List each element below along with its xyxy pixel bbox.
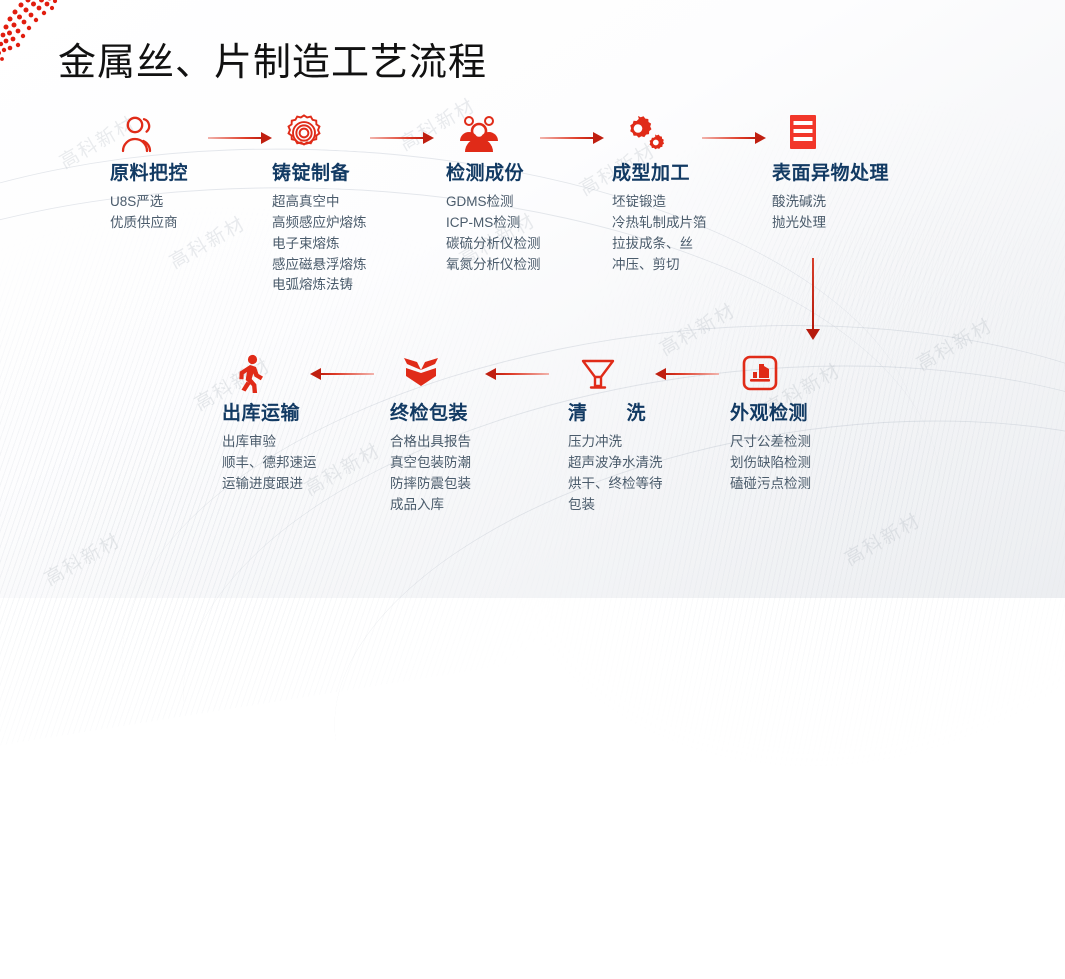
step-detail-line: ICP-MS检测 (446, 213, 621, 234)
arrow-shaft (702, 137, 755, 139)
step-detail-list: 合格出具报告 真空包装防潮 防摔防震包装 成品入库 (390, 432, 565, 516)
step-detail-line: 优质供应商 (110, 213, 285, 234)
step-detail-list: U8S严选 优质供应商 (110, 192, 285, 234)
step-detail-list: 尺寸公差检测 划伤缺陷检测 磕碰污点检测 (730, 432, 905, 495)
gear-target-outline-icon (282, 112, 326, 154)
open-box-solid-icon (400, 356, 442, 394)
running-person-solid-icon (232, 354, 270, 394)
step-icon-wrapper (272, 108, 447, 154)
step-detail-line: 超声波净水清洗 (568, 453, 743, 474)
arrow-head (755, 132, 766, 144)
process-flow-diagram: 原料把控 U8S严选 优质供应商 铸锭制备 超高真空中 高频感应炉熔炼 电子束熔… (0, 0, 1065, 598)
arrow-shaft (208, 137, 261, 139)
step-title: 成型加工 (612, 162, 787, 186)
step-detail-line: 抛光处理 (772, 213, 947, 234)
step-detail-line: 感应磁悬浮熔炼 (272, 255, 447, 276)
step-detail-line: 顺丰、德邦速运 (222, 453, 397, 474)
step-title: 终检包装 (390, 402, 565, 426)
step-detail-line: 磕碰污点检测 (730, 474, 905, 495)
step-title: 清 洗 (568, 402, 743, 426)
step-detail-line: 运输进度跟进 (222, 474, 397, 495)
step-detail-line: 防摔防震包装 (390, 474, 565, 495)
step-title: 出库运输 (222, 402, 397, 426)
step-final-inspection-packaging[interactable]: 终检包装 合格出具报告 真空包装防潮 防摔防震包装 成品入库 (390, 348, 565, 515)
step-icon-wrapper (222, 348, 397, 394)
step-detail-list: 坯锭锻造 冷热轧制成片箔 拉拔成条、丝 冲压、剪切 (612, 192, 787, 276)
step-detail-line: 高频感应炉熔炼 (272, 213, 447, 234)
arrow-shaft (540, 137, 593, 139)
two-people-outline-icon (120, 114, 162, 154)
step-icon-wrapper (568, 348, 743, 394)
step-icon-wrapper (730, 348, 905, 394)
step-detail-line: 出库审验 (222, 432, 397, 453)
step-detail-line: 压力冲洗 (568, 432, 743, 453)
arrow-head (593, 132, 604, 144)
people-group-solid-icon (456, 114, 502, 154)
step-title: 外观检测 (730, 402, 905, 426)
step-detail-line: 成品入库 (390, 495, 565, 516)
step-cleaning[interactable]: 清 洗 压力冲洗 超声波净水清洗 烘干、终检等待包装 (568, 348, 743, 515)
step-detail-line: 坯锭锻造 (612, 192, 787, 213)
step-title: 原料把控 (110, 162, 285, 186)
step-detail-list: GDMS检测 ICP-MS检测 碳硫分析仪检测 氧氮分析仪检测 (446, 192, 621, 276)
step-icon-wrapper (446, 108, 621, 154)
step-detail-line: 氧氮分析仪检测 (446, 255, 621, 276)
page-title: 金属丝、片制造工艺流程 (58, 31, 487, 86)
step-detail-line: 尺寸公差检测 (730, 432, 905, 453)
microscope-framed-outline-icon (740, 354, 780, 394)
step-detail-line: 碳硫分析仪检测 (446, 234, 621, 255)
step-surface-treatment[interactable]: 表面异物处理 酸洗碱洗 抛光处理 (772, 108, 947, 234)
arrow-head (423, 132, 434, 144)
step-detail-list: 酸洗碱洗 抛光处理 (772, 192, 947, 234)
arrow-head (806, 329, 820, 340)
step-detail-line: 电弧熔炼法铸 (272, 275, 447, 296)
step-detail-list: 超高真空中 高频感应炉熔炼 电子束熔炼 感应磁悬浮熔炼 电弧熔炼法铸 (272, 192, 447, 297)
step-title: 铸锭制备 (272, 162, 447, 186)
arrow-2-3 (370, 132, 434, 144)
step-outbound-transport[interactable]: 出库运输 出库审验 顺丰、德邦速运 运输进度跟进 (222, 348, 397, 495)
arrow-5-6 (807, 258, 819, 340)
step-icon-wrapper (612, 108, 787, 154)
step-detail-line: 烘干、终检等待包装 (568, 474, 673, 516)
arrow-3-4 (540, 132, 604, 144)
document-lines-solid-icon (782, 112, 822, 154)
funnel-outline-icon (578, 354, 618, 394)
arrow-4-5 (702, 132, 766, 144)
arrow-1-2 (208, 132, 272, 144)
step-detail-line: 合格出具报告 (390, 432, 565, 453)
step-detail-line: U8S严选 (110, 192, 285, 213)
step-icon-wrapper (110, 108, 285, 154)
step-detail-line: 超高真空中 (272, 192, 447, 213)
step-detail-line: 冲压、剪切 (612, 255, 787, 276)
step-raw-material-control[interactable]: 原料把控 U8S严选 优质供应商 (110, 108, 285, 234)
step-detail-line: 拉拔成条、丝 (612, 234, 787, 255)
arrow-shaft (812, 258, 814, 329)
step-detail-line: 冷热轧制成片箔 (612, 213, 787, 234)
step-detail-list: 出库审验 顺丰、德邦速运 运输进度跟进 (222, 432, 397, 495)
step-detail-line: 酸洗碱洗 (772, 192, 947, 213)
step-detail-line: 电子束熔炼 (272, 234, 447, 255)
step-detail-line: 真空包装防潮 (390, 453, 565, 474)
step-detail-line: 划伤缺陷检测 (730, 453, 905, 474)
step-icon-wrapper (772, 108, 947, 154)
arrow-shaft (370, 137, 423, 139)
step-title: 检测成份 (446, 162, 621, 186)
step-detail-line: GDMS检测 (446, 192, 621, 213)
step-appearance-inspection[interactable]: 外观检测 尺寸公差检测 划伤缺陷检测 磕碰污点检测 (730, 348, 905, 495)
arrow-head (261, 132, 272, 144)
two-gears-solid-icon (622, 114, 666, 154)
step-detail-list: 压力冲洗 超声波净水清洗 烘干、终检等待包装 (568, 432, 743, 516)
step-title: 表面异物处理 (772, 162, 947, 186)
step-icon-wrapper (390, 348, 565, 394)
